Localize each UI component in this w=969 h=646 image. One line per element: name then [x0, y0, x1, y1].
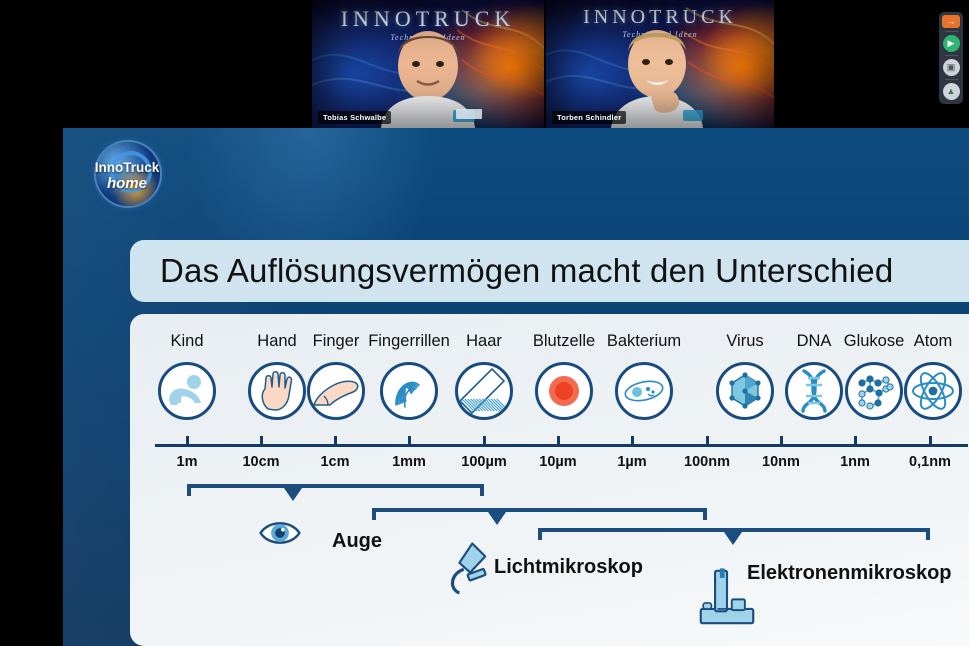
- eye-icon: [245, 512, 315, 554]
- object-label-bacterium: Bakterium: [607, 332, 681, 351]
- bacterium-icon: [615, 362, 673, 420]
- axis-tick-label: 1nm: [840, 454, 870, 470]
- axis-tick: [186, 436, 189, 444]
- leave-call-icon[interactable]: →: [942, 15, 960, 28]
- video-tile-participant-1[interactable]: INNOTRUCK Technik und Ideen Tobias Schwa…: [312, 0, 544, 128]
- participant-name: Torben Schindler: [552, 111, 626, 124]
- axis-tick: [929, 436, 932, 444]
- fingerprint-icon: [380, 362, 438, 420]
- axis-tick: [780, 436, 783, 444]
- microphone-icon[interactable]: ▶: [943, 35, 960, 52]
- axis-tick-label: 10nm: [762, 454, 800, 470]
- object-label-virus: Virus: [726, 332, 763, 351]
- logo-line-1: InnoTruck: [88, 160, 166, 175]
- share-screen-icon[interactable]: ▲: [943, 83, 960, 100]
- video-strip: INNOTRUCK Technik und Ideen Tobias Schwa…: [0, 0, 969, 128]
- object-label-hand: Hand: [257, 332, 296, 351]
- instrument-label-eye: Auge: [332, 530, 382, 553]
- tile-vignette: [546, 0, 774, 128]
- scale-axis: [155, 444, 968, 447]
- toolbar-divider: [945, 79, 958, 80]
- finger-icon: [307, 362, 365, 420]
- electron-microscope-icon: [690, 566, 764, 628]
- object-label-atom: Atom: [914, 332, 953, 351]
- axis-tick-label: 1mm: [392, 454, 426, 470]
- virus-icon: [716, 362, 774, 420]
- shirt-logo-secondary: [456, 109, 482, 119]
- axis-tick-label: 10cm: [242, 454, 279, 470]
- light-microscope-icon: [440, 534, 496, 596]
- object-label-finger: Finger: [313, 332, 360, 351]
- instrument-label-light-microscope: Lichtmikroskop: [494, 556, 643, 579]
- axis-tick: [408, 436, 411, 444]
- axis-tick: [631, 436, 634, 444]
- object-label-hair: Haar: [466, 332, 502, 351]
- hair-icon: [455, 362, 513, 420]
- instrument-label-electron-microscope: Elektronenmikroskop: [747, 562, 952, 585]
- axis-tick: [483, 436, 486, 444]
- logo-line-2: home: [88, 175, 166, 192]
- screen: INNOTRUCK Technik und Ideen Tobias Schwa…: [0, 0, 969, 646]
- axis-tick-label: 10µm: [539, 454, 576, 470]
- page-title: Das Auflösungsvermögen macht den Untersc…: [130, 252, 893, 290]
- axis-tick: [334, 436, 337, 444]
- axis-tick: [260, 436, 263, 444]
- axis-tick-label: 1cm: [320, 454, 349, 470]
- tile-vignette: [312, 0, 544, 128]
- glucose-icon: [845, 362, 903, 420]
- slide-title-banner: Das Auflösungsvermögen macht den Untersc…: [130, 240, 969, 302]
- innotruck-logo: InnoTruck home: [88, 142, 166, 208]
- camera-icon[interactable]: ▣: [943, 59, 960, 76]
- object-label-blood-cell: Blutzelle: [533, 332, 595, 351]
- toolbar-divider: [945, 55, 958, 56]
- axis-tick-label: 1m: [177, 454, 198, 470]
- axis-tick-label: 1µm: [617, 454, 646, 470]
- object-label-glucose: Glukose: [844, 332, 905, 351]
- baby-icon: [158, 362, 216, 420]
- object-label-fingerprint: Fingerrillen: [368, 332, 450, 351]
- video-tile-participant-2[interactable]: INNOTRUCK Technik und Ideen Torben Schin…: [546, 0, 774, 128]
- object-label-dna: DNA: [797, 332, 832, 351]
- toolbar-divider: [945, 31, 958, 32]
- atom-icon: [904, 362, 962, 420]
- axis-tick: [706, 436, 709, 444]
- hand-icon: [248, 362, 306, 420]
- participant-name: Tobias Schwalbe: [318, 111, 391, 124]
- axis-tick-label: 100µm: [461, 454, 506, 470]
- call-toolbar[interactable]: → ▶ ▣ ▲: [939, 12, 963, 104]
- dna-icon: [785, 362, 843, 420]
- axis-tick: [854, 436, 857, 444]
- axis-tick-label: 0,1nm: [909, 454, 951, 470]
- axis-tick-label: 100nm: [684, 454, 730, 470]
- blood-cell-icon: [535, 362, 593, 420]
- object-label-baby: Kind: [170, 332, 203, 351]
- scale-diagram-card: KindHandFingerFingerrillenHaarBlutzelleB…: [130, 314, 969, 646]
- axis-tick: [557, 436, 560, 444]
